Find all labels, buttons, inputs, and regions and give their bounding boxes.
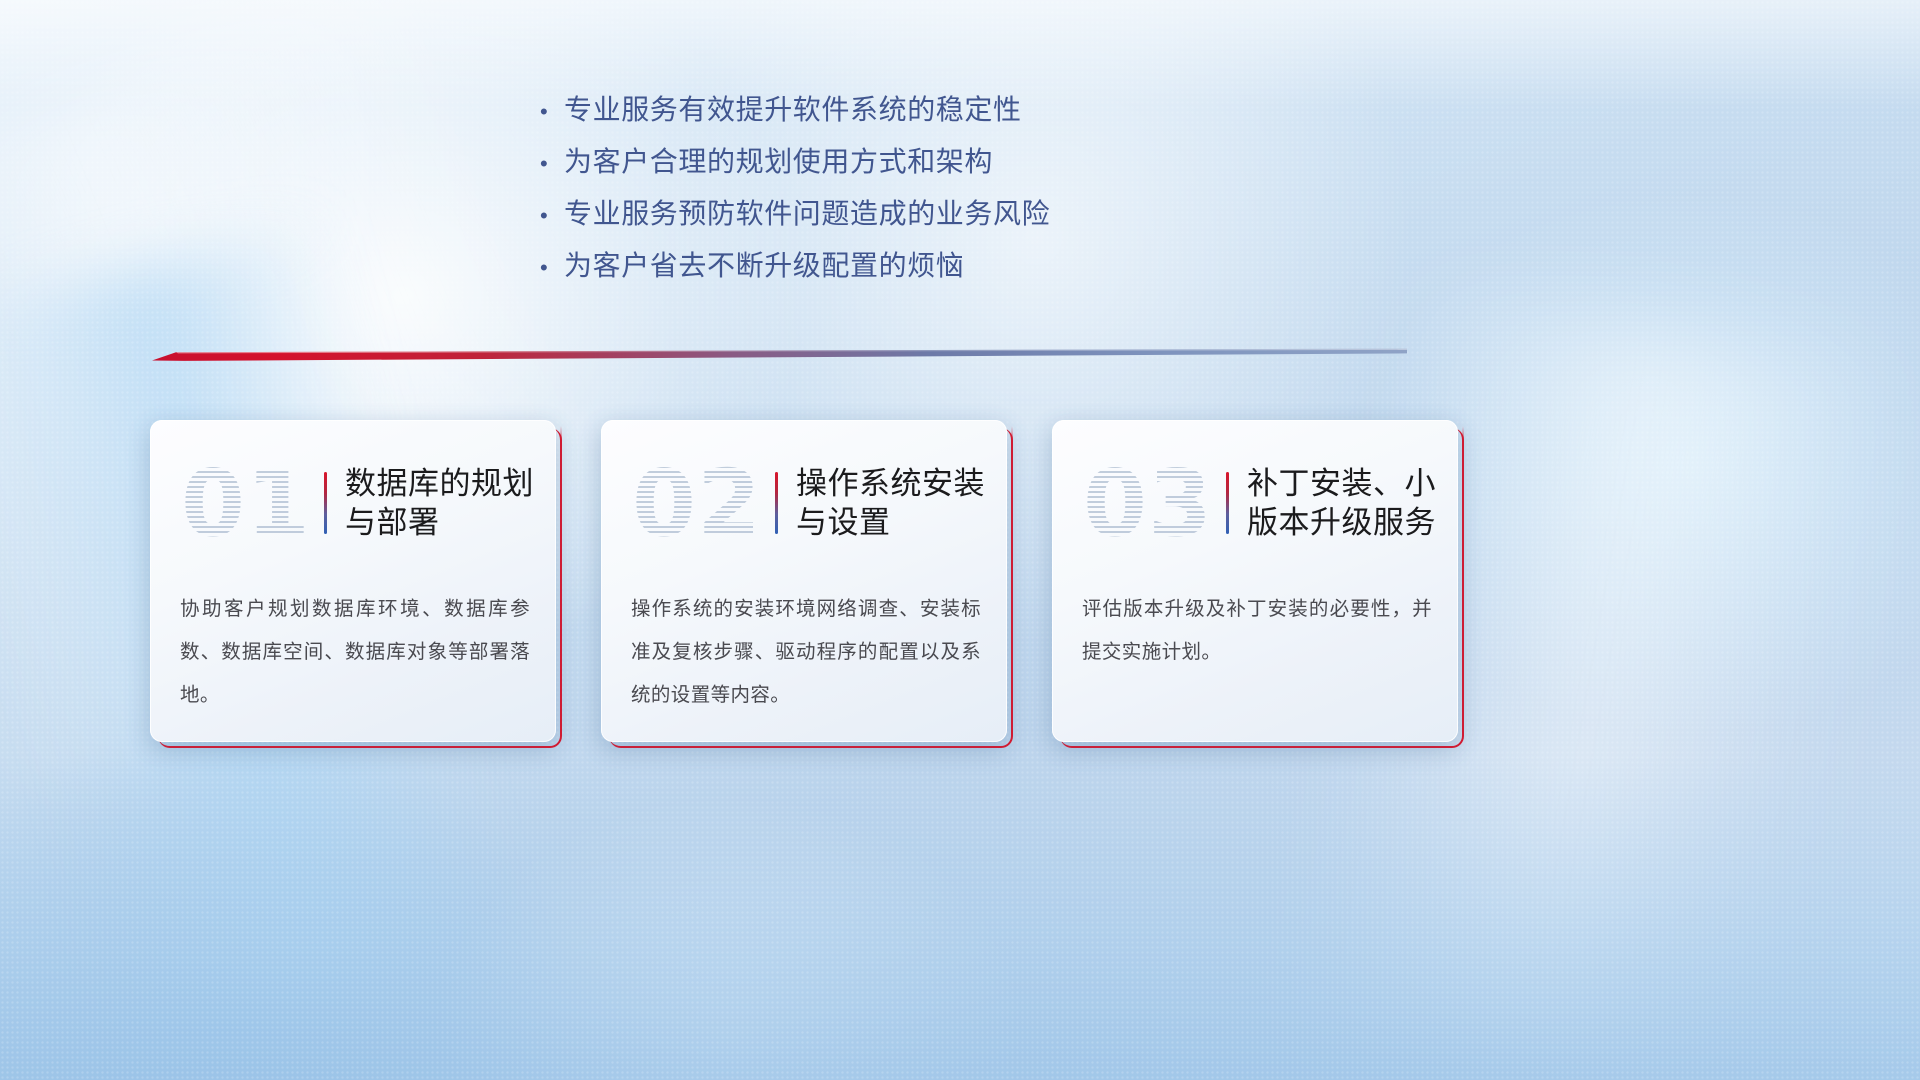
list-item: • 为客户省去不断升级配置的烦恼 [532,244,1172,296]
card-number-watermark: 03 [1074,451,1222,555]
bullet-point-icon: • [532,257,564,279]
list-item: • 为客户合理的规划使用方式和架构 [532,140,1172,192]
benefits-bullet-list: • 专业服务有效提升软件系统的稳定性 • 为客户合理的规划使用方式和架构 • 专… [532,88,1172,296]
bullet-text: 为客户合理的规划使用方式和架构 [564,140,993,180]
service-card[interactable]: 01 数据库的规划与部署 协助客户规划数据库环境、数据库参数、数据库空间、数据库… [150,420,556,742]
card-title-divider [775,472,778,534]
bullet-point-icon: • [532,153,564,175]
bullet-text: 专业服务有效提升软件系统的稳定性 [564,88,1022,128]
card-title: 数据库的规划与部署 [345,464,556,542]
card-header: 03 补丁安装、小版本升级服务 [1052,448,1458,558]
list-item: • 专业服务预防软件问题造成的业务风险 [532,192,1172,244]
card-surface: 03 补丁安装、小版本升级服务 评估版本升级及补丁安装的必要性，并提交实施计划。 [1052,420,1458,742]
card-surface: 01 数据库的规划与部署 协助客户规划数据库环境、数据库参数、数据库空间、数据库… [150,420,556,742]
card-surface: 02 操作系统安装与设置 操作系统的安装环境网络调查、安装标准及复核步骤、驱动程… [601,420,1007,742]
card-title: 操作系统安装与设置 [796,464,1007,542]
card-title-divider [1226,472,1229,534]
card-title-divider [324,472,327,534]
card-number-watermark: 01 [172,451,320,555]
service-cards: 01 数据库的规划与部署 协助客户规划数据库环境、数据库参数、数据库空间、数据库… [150,420,1460,750]
bullet-text: 专业服务预防软件问题造成的业务风险 [564,192,1050,232]
service-card[interactable]: 03 补丁安装、小版本升级服务 评估版本升级及补丁安装的必要性，并提交实施计划。 [1052,420,1458,742]
list-item: • 专业服务有效提升软件系统的稳定性 [532,88,1172,140]
card-title: 补丁安装、小版本升级服务 [1247,464,1458,542]
card-description: 操作系统的安装环境网络调查、安装标准及复核步骤、驱动程序的配置以及系统的设置等内… [631,588,981,717]
bullet-text: 为客户省去不断升级配置的烦恼 [564,244,964,284]
card-description: 协助客户规划数据库环境、数据库参数、数据库空间、数据库对象等部署落地。 [180,588,530,717]
card-header: 02 操作系统安装与设置 [601,448,1007,558]
section-divider [152,347,1407,363]
card-header: 01 数据库的规划与部署 [150,448,556,558]
card-description: 评估版本升级及补丁安装的必要性，并提交实施计划。 [1082,588,1432,674]
bullet-point-icon: • [532,205,564,227]
service-card[interactable]: 02 操作系统安装与设置 操作系统的安装环境网络调查、安装标准及复核步骤、驱动程… [601,420,1007,742]
card-number-watermark: 02 [623,451,771,555]
bullet-point-icon: • [532,101,564,123]
